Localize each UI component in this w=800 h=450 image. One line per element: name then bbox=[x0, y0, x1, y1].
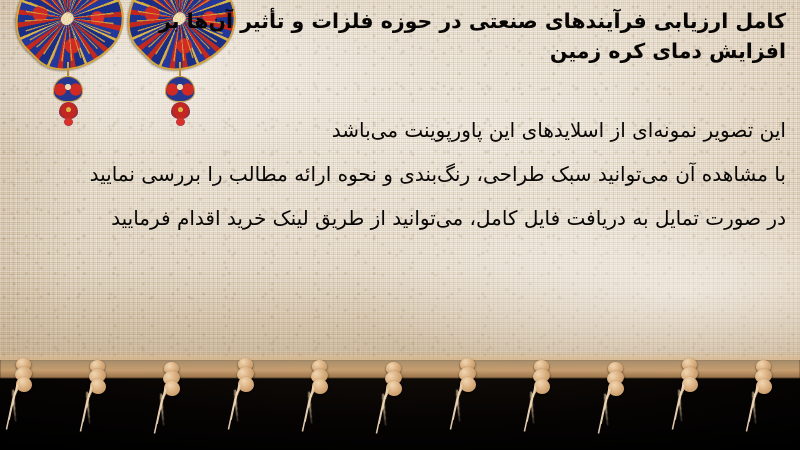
fringe-tassel bbox=[598, 360, 632, 448]
presentation-slide: کامل ارزیابی فرآیندهای صنعتی در حوزه فلز… bbox=[0, 0, 800, 450]
fringe-tassel bbox=[376, 360, 410, 448]
body-line-1: این تصویر نمونه‌ای از اسلایدهای این پاور… bbox=[10, 108, 786, 152]
fringe-tassel bbox=[746, 358, 780, 446]
fringe-tassel bbox=[450, 356, 484, 444]
fringe-tassel bbox=[154, 360, 188, 448]
fringe-tassel bbox=[80, 358, 114, 446]
ornament-pendant-large-icon bbox=[165, 76, 195, 102]
fringe-tassel bbox=[6, 356, 40, 444]
fringe-tassel bbox=[302, 358, 336, 446]
slide-body-text: این تصویر نمونه‌ای از اسلایدهای این پاور… bbox=[10, 108, 786, 240]
body-line-2: با مشاهده آن می‌توانید سبک طراحی، رنگ‌بن… bbox=[10, 152, 786, 196]
fringe-tassel bbox=[672, 356, 706, 444]
persian-ornament-icon bbox=[16, 0, 120, 70]
slide-title: کامل ارزیابی فرآیندهای صنعتی در حوزه فلز… bbox=[126, 6, 786, 66]
ornament-pendant-large-icon bbox=[53, 76, 83, 102]
slide-title-line-1: کامل ارزیابی فرآیندهای صنعتی در حوزه فلز… bbox=[159, 9, 786, 33]
slide-title-line-2: افزایش دمای کره زمین bbox=[126, 36, 786, 66]
fringe-tassel bbox=[524, 358, 558, 446]
body-line-3: در صورت تمایل به دریافت فایل کامل، می‌تو… bbox=[10, 196, 786, 240]
fringe-tassel bbox=[228, 356, 262, 444]
